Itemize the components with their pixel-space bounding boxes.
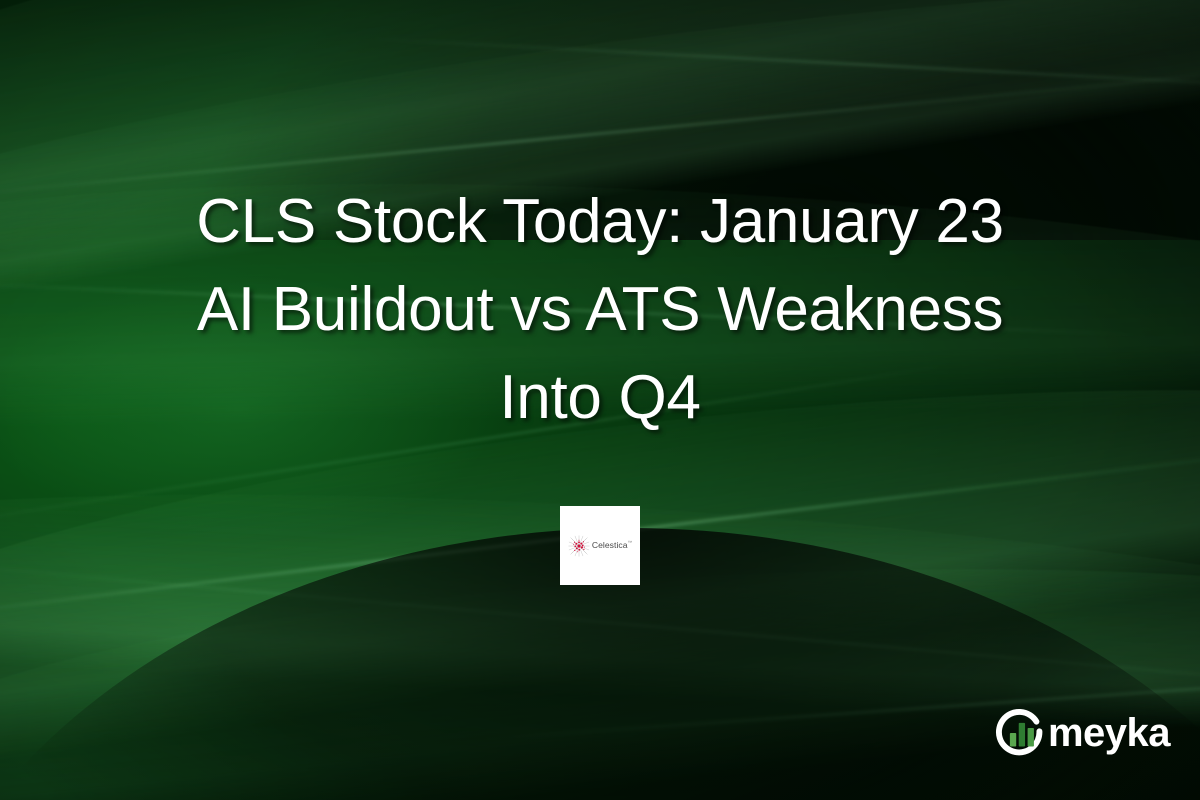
page-title: CLS Stock Today: January 23 AI Buildout …: [0, 178, 1200, 442]
meyka-wordmark: meyka: [1048, 713, 1170, 753]
meyka-ring-barchart-icon: [993, 706, 1047, 760]
company-logo-wordmark: Celestica™: [592, 541, 632, 550]
trademark-symbol: ™: [628, 540, 633, 545]
share-card-canvas: CLS Stock Today: January 23 AI Buildout …: [0, 0, 1200, 800]
celestica-starburst-icon: [568, 535, 590, 557]
company-logo-card: Celestica™: [560, 506, 640, 585]
card-content: CLS Stock Today: January 23 AI Buildout …: [0, 0, 1200, 800]
company-name-text: Celestica: [592, 540, 628, 550]
company-logo: Celestica™: [568, 535, 632, 557]
meyka-brand-logo[interactable]: meyka: [993, 706, 1170, 760]
